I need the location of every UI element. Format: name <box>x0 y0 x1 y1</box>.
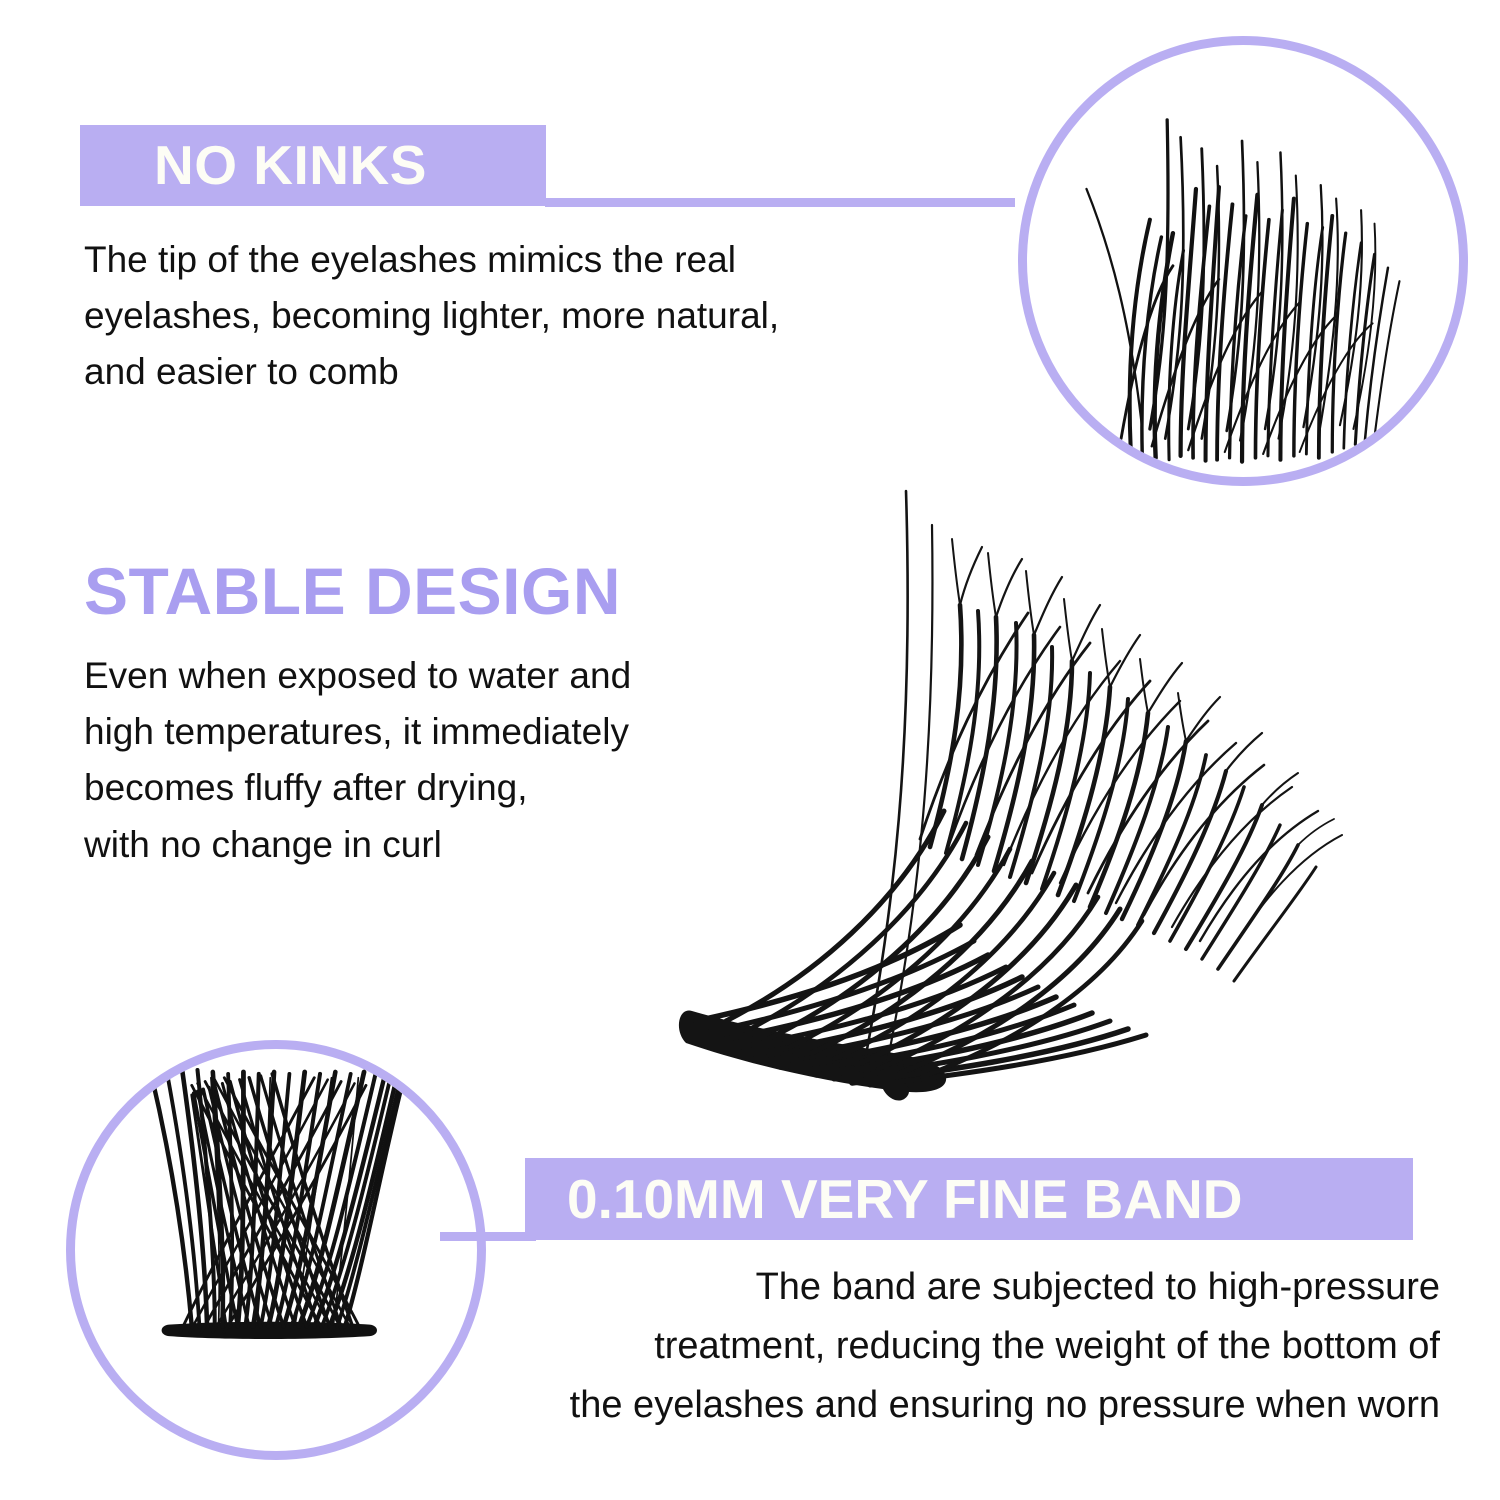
lash-tips-closeup-icon <box>1027 45 1459 477</box>
badge-fine-band-label: 0.10MM VERY FINE BAND <box>567 1172 1242 1227</box>
eyelash-strip-icon <box>630 455 1390 1135</box>
body-text-no-kinks: The tip of the eyelashes mimics the real… <box>84 232 914 401</box>
badge-no-kinks: NO KINKS <box>80 125 546 206</box>
body-text-fine-band: The band are subjected to high-pressure … <box>430 1258 1440 1435</box>
infographic-page: NO KINKS The tip of the eyelashes mimics… <box>0 0 1500 1500</box>
connector-line-fine-band <box>440 1232 536 1241</box>
lash-band-closeup-icon <box>75 1049 477 1451</box>
callout-circle-lash-band <box>66 1040 486 1460</box>
badge-fine-band: 0.10MM VERY FINE BAND <box>525 1158 1413 1240</box>
badge-no-kinks-label: NO KINKS <box>154 138 427 193</box>
callout-circle-lash-tips <box>1018 36 1468 486</box>
heading-stable-design: STABLE DESIGN <box>84 558 621 624</box>
lash-strip-main-image <box>630 455 1390 1135</box>
connector-line-no-kinks <box>545 198 1015 207</box>
